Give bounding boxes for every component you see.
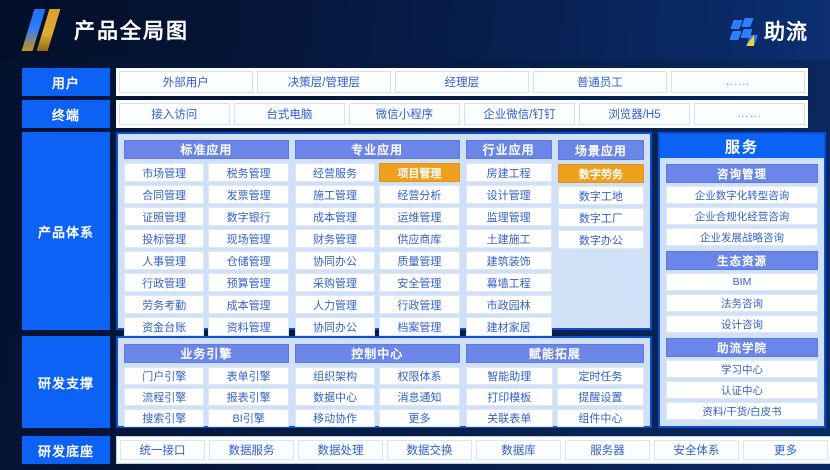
app-cell[interactable]: 数字工地 <box>558 186 644 205</box>
app-cell[interactable]: 关联表单 <box>466 409 553 427</box>
app-cell[interactable]: 组织架构 <box>295 367 375 385</box>
service-group-academy: 助流学院 学习中心 认证中心 资料/干货/白皮书 <box>666 338 818 420</box>
app-cell[interactable]: 表单引擎 <box>208 367 288 385</box>
row-label-user: 用户 <box>22 68 110 96</box>
app-cell[interactable]: 更多 <box>379 409 459 427</box>
app-cell[interactable]: 劳务考勤 <box>124 295 204 314</box>
app-cell[interactable]: 人事管理 <box>124 251 204 270</box>
app-cell[interactable]: 监理管理 <box>466 207 552 226</box>
app-cell[interactable]: 智能助理 <box>466 367 553 385</box>
service-cell[interactable]: 企业数字化转型咨询 <box>666 186 818 204</box>
group-column: 门户引擎 流程引擎 搜索引擎 <box>124 367 204 427</box>
product-map-page: 产品全局图 助流 用户 外部用户 决策层/管理层 经理层 普通员工 …… 终端 … <box>0 0 830 470</box>
service-title: 服务 <box>660 134 824 158</box>
group-title: 业务引擎 <box>124 344 289 363</box>
app-cell[interactable]: 数据中心 <box>295 388 375 406</box>
list-item-more[interactable]: …… <box>671 71 805 93</box>
user-items: 外部用户 决策层/管理层 经理层 普通员工 …… <box>116 68 808 96</box>
app-cell[interactable]: 流程引擎 <box>124 388 204 406</box>
rd-support-row: 研发支撑 业务引擎 门户引擎 流程引擎 搜索引擎 表单引擎 报表引擎 BI引擎 <box>22 336 652 428</box>
terminal-items: 接入访问 台式电脑 微信小程序 企业微信/钉钉 浏览器/H5 …… <box>116 100 808 128</box>
app-cell[interactable]: 建筑装饰 <box>466 251 552 270</box>
app-cell[interactable]: 数字银行 <box>208 207 288 226</box>
row-label-rd-base: 研发底座 <box>22 436 110 464</box>
app-cell[interactable]: 成本管理 <box>208 295 288 314</box>
service-group-ecosystem: 生态资源 BIM 法务咨询 设计咨询 <box>666 251 818 333</box>
group-column: 权限体系 消息通知 更多 <box>379 367 459 427</box>
app-cell[interactable]: 成本管理 <box>295 207 375 226</box>
app-cell[interactable]: 证照管理 <box>124 207 204 226</box>
app-cell[interactable]: 协同办公 <box>295 251 375 270</box>
app-cell[interactable]: 现场管理 <box>208 229 288 248</box>
group-control-center: 控制中心 组织架构 数据中心 移动协作 权限体系 消息通知 更多 <box>295 344 460 420</box>
group-enablement: 赋能拓展 智能助理 打印模板 关联表单 定时任务 提醒设置 组件中心 <box>466 344 644 420</box>
app-cell[interactable]: 施工管理 <box>295 185 375 204</box>
group-title: 生态资源 <box>666 251 818 270</box>
app-cell[interactable]: 财务管理 <box>295 229 375 248</box>
terminal-row: 终端 接入访问 台式电脑 微信小程序 企业微信/钉钉 浏览器/H5 …… <box>22 100 808 128</box>
app-cell[interactable]: 协同办公 <box>295 317 375 336</box>
group-industry-apps: 行业应用 房建工程 设计管理 监理管理 土建施工 建筑装饰 幕墙工程 市政园林 … <box>466 140 552 322</box>
list-item[interactable]: 台式电脑 <box>234 103 345 125</box>
app-cell[interactable]: 数字工厂 <box>558 208 644 227</box>
app-cell[interactable]: 运维管理 <box>379 207 459 226</box>
app-cell[interactable]: 移动协作 <box>295 409 375 427</box>
app-cell[interactable]: 发票管理 <box>208 185 288 204</box>
list-item[interactable]: 更多 <box>743 440 828 460</box>
group-standard-apps: 标准应用 市场管理 合同管理 证照管理 投标管理 人事管理 行政管理 劳务考勤 … <box>124 140 289 322</box>
app-cell[interactable]: 资金台账 <box>124 317 204 336</box>
row-label-terminal: 终端 <box>22 100 110 128</box>
product-system-row: 产品体系 标准应用 市场管理 合同管理 证照管理 投标管理 人事管理 行政管理 … <box>22 132 652 330</box>
group-column: 定时任务 提醒设置 组件中心 <box>557 367 644 427</box>
app-cell[interactable]: 资料管理 <box>208 317 288 336</box>
service-cell[interactable]: 学习中心 <box>666 360 818 378</box>
product-system-panel: 标准应用 市场管理 合同管理 证照管理 投标管理 人事管理 行政管理 劳务考勤 … <box>116 132 652 330</box>
app-cell[interactable]: 土建施工 <box>466 229 552 248</box>
list-item[interactable]: 数据库 <box>476 440 561 460</box>
app-cell[interactable]: 消息通知 <box>379 388 459 406</box>
group-title: 专业应用 <box>295 140 460 159</box>
service-cell[interactable]: 企业合规化经营咨询 <box>666 207 818 225</box>
group-column: 市场管理 合同管理 证照管理 投标管理 人事管理 行政管理 劳务考勤 资金台账 <box>124 163 204 336</box>
page-header: 产品全局图 助流 <box>0 0 830 60</box>
group-title: 咨询管理 <box>666 164 818 183</box>
app-cell[interactable]: 供应商库 <box>379 229 459 248</box>
group-title: 标准应用 <box>124 140 289 159</box>
service-cell[interactable]: BIM <box>666 273 818 291</box>
list-item[interactable]: 数据服务 <box>209 440 294 460</box>
group-column: 数字劳务 数字工地 数字工厂 数字办公 <box>558 164 644 249</box>
app-cell[interactable]: 质量管理 <box>379 251 459 270</box>
app-cell[interactable]: 定时任务 <box>557 367 644 385</box>
app-cell[interactable]: 仓储管理 <box>208 251 288 270</box>
group-column: 智能助理 打印模板 关联表单 <box>466 367 553 427</box>
service-group-consulting: 咨询管理 企业数字化转型咨询 企业合规化经营咨询 企业发展战略咨询 <box>666 164 818 246</box>
app-cell[interactable]: 安全管理 <box>379 273 459 292</box>
zhuliu-logo-icon <box>731 18 757 45</box>
list-item[interactable]: 企业微信/钉钉 <box>464 103 575 125</box>
service-cell[interactable]: 企业发展战略咨询 <box>666 228 818 246</box>
group-title: 控制中心 <box>295 344 460 363</box>
app-cell[interactable]: 幕墙工程 <box>466 273 552 292</box>
list-item[interactable]: 普通员工 <box>533 71 667 93</box>
group-title: 助流学院 <box>666 338 818 357</box>
app-cell[interactable]: 投标管理 <box>124 229 204 248</box>
app-cell[interactable]: 经营服务 <box>295 163 375 182</box>
group-column: 经营服务 施工管理 成本管理 财务管理 协同办公 采购管理 人力管理 协同办公 <box>295 163 375 336</box>
app-cell[interactable]: 组件中心 <box>557 409 644 427</box>
app-cell[interactable]: 合同管理 <box>124 185 204 204</box>
logo-text: 助流 <box>764 16 808 46</box>
app-cell[interactable]: 行政管理 <box>124 273 204 292</box>
list-item[interactable]: 外部用户 <box>119 71 253 93</box>
app-cell[interactable]: 建材家居 <box>466 317 552 336</box>
row-label-rd-support: 研发支撑 <box>22 336 110 428</box>
service-panel: 服务 咨询管理 企业数字化转型咨询 企业合规化经营咨询 企业发展战略咨询 生态资… <box>658 132 826 428</box>
list-item-more[interactable]: …… <box>694 103 805 125</box>
app-cell[interactable]: 提醒设置 <box>557 388 644 406</box>
app-cell[interactable]: 报表引擎 <box>208 388 288 406</box>
group-title: 行业应用 <box>466 140 552 159</box>
app-cell[interactable]: 档案管理 <box>379 317 459 336</box>
app-cell[interactable]: 预算管理 <box>208 273 288 292</box>
group-column: 组织架构 数据中心 移动协作 <box>295 367 375 427</box>
brand-slash-icon <box>26 9 60 51</box>
group-column: 房建工程 设计管理 监理管理 土建施工 建筑装饰 幕墙工程 市政园林 建材家居 <box>466 163 552 336</box>
list-item[interactable]: 微信小程序 <box>349 103 460 125</box>
app-cell[interactable]: 市政园林 <box>466 295 552 314</box>
app-cell[interactable]: 权限体系 <box>379 367 459 385</box>
row-label-product-system: 产品体系 <box>22 132 110 330</box>
group-professional-apps: 专业应用 经营服务 施工管理 成本管理 财务管理 协同办公 采购管理 人力管理 … <box>295 140 460 322</box>
group-title: 场景应用 <box>558 140 644 160</box>
service-cell[interactable]: 法务咨询 <box>666 294 818 312</box>
rd-support-panel: 业务引擎 门户引擎 流程引擎 搜索引擎 表单引擎 报表引擎 BI引擎 控制中心 <box>116 336 652 428</box>
app-cell[interactable]: 门户引擎 <box>124 367 204 385</box>
app-cell[interactable]: 经营分析 <box>379 185 459 204</box>
app-cell[interactable]: 打印模板 <box>466 388 553 406</box>
list-item[interactable]: 经理层 <box>395 71 529 93</box>
app-cell[interactable]: 数字办公 <box>558 230 644 249</box>
service-cell[interactable]: 资料/干货/白皮书 <box>666 402 818 420</box>
app-cell[interactable]: 搜索引擎 <box>124 409 204 427</box>
app-cell-highlighted[interactable]: 数字劳务 <box>558 164 644 183</box>
service-cell[interactable]: 设计咨询 <box>666 315 818 333</box>
rd-base-row: 研发底座 统一接口 数据服务 数据处理 数据交换 数据库 服务器 安全体系 更多 <box>22 436 830 464</box>
group-business-engine: 业务引擎 门户引擎 流程引擎 搜索引擎 表单引擎 报表引擎 BI引擎 <box>124 344 289 420</box>
group-scene-apps: 场景应用 数字劳务 数字工地 数字工厂 数字办公 <box>558 140 644 322</box>
app-cell[interactable]: BI引擎 <box>208 409 288 427</box>
page-title: 产品全局图 <box>74 15 189 45</box>
list-item[interactable]: 浏览器/H5 <box>579 103 690 125</box>
service-cell[interactable]: 认证中心 <box>666 381 818 399</box>
app-cell[interactable]: 采购管理 <box>295 273 375 292</box>
app-cell[interactable]: 设计管理 <box>466 185 552 204</box>
group-column: 表单引擎 报表引擎 BI引擎 <box>208 367 288 427</box>
app-cell[interactable]: 市场管理 <box>124 163 204 182</box>
zhuliu-logo[interactable]: 助流 <box>731 16 808 46</box>
app-cell[interactable]: 税务管理 <box>208 163 288 182</box>
app-cell[interactable]: 行政管理 <box>379 295 459 314</box>
list-item[interactable]: 安全体系 <box>654 440 739 460</box>
list-item[interactable]: 统一接口 <box>120 440 205 460</box>
list-item[interactable]: 决策层/管理层 <box>257 71 391 93</box>
app-cell[interactable]: 房建工程 <box>466 163 552 182</box>
list-item[interactable]: 数据处理 <box>298 440 383 460</box>
list-item[interactable]: 接入访问 <box>119 103 230 125</box>
list-item[interactable]: 数据交换 <box>387 440 472 460</box>
app-cell[interactable]: 人力管理 <box>295 295 375 314</box>
user-row: 用户 外部用户 决策层/管理层 经理层 普通员工 …… <box>22 68 808 96</box>
app-cell-highlighted[interactable]: 项目管理 <box>379 163 459 182</box>
group-column: 项目管理 经营分析 运维管理 供应商库 质量管理 安全管理 行政管理 档案管理 <box>379 163 459 336</box>
rd-base-items: 统一接口 数据服务 数据处理 数据交换 数据库 服务器 安全体系 更多 <box>116 436 830 464</box>
list-item[interactable]: 服务器 <box>565 440 650 460</box>
group-column: 税务管理 发票管理 数字银行 现场管理 仓储管理 预算管理 成本管理 资料管理 <box>208 163 288 336</box>
group-title: 赋能拓展 <box>466 344 644 363</box>
